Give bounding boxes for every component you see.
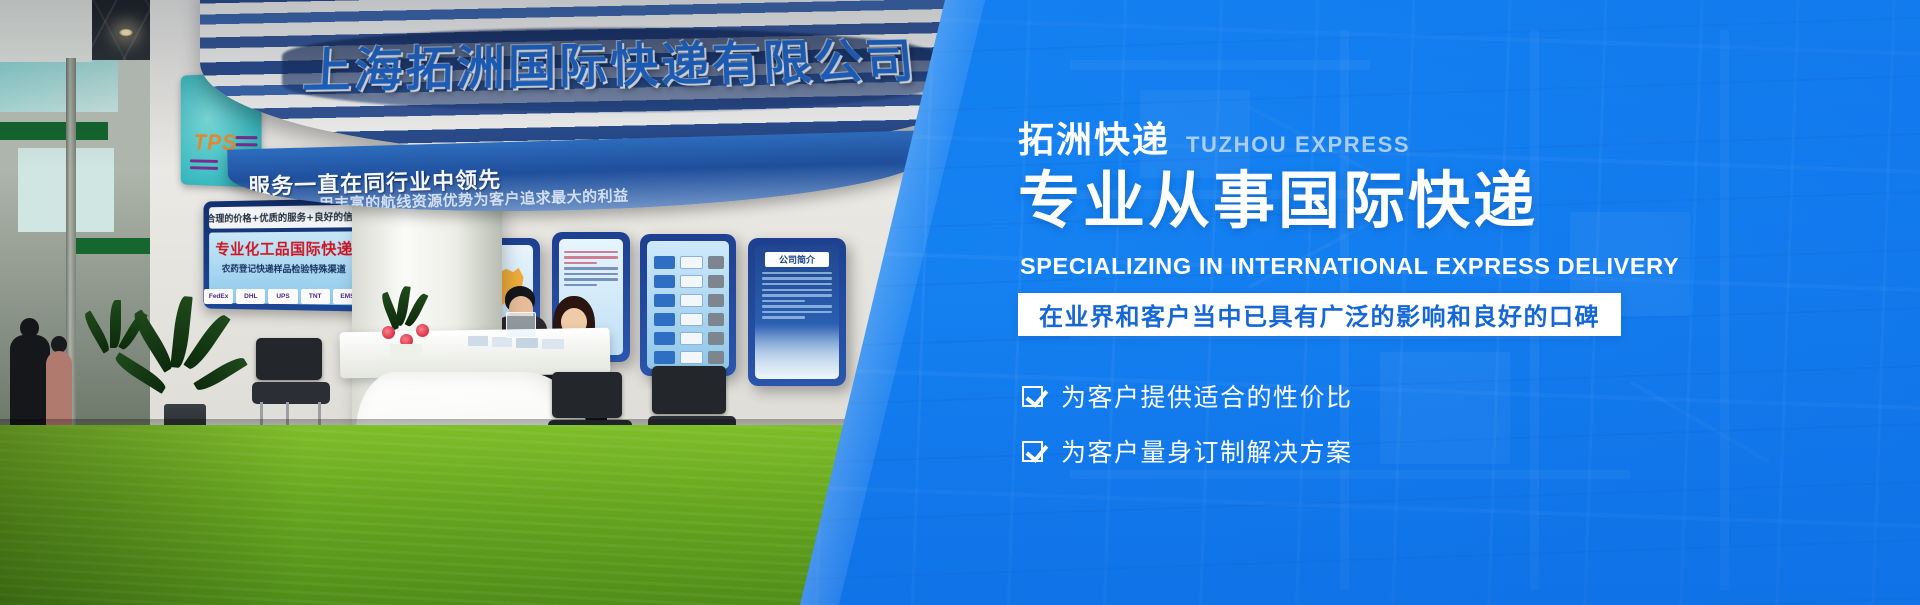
- text-line: [762, 300, 806, 302]
- thumbnail: [708, 351, 724, 364]
- check-box-icon: [1022, 386, 1043, 407]
- feature-bullet-label: 为客户量身订制解决方案: [1061, 433, 1353, 469]
- partner-logo: TNT: [301, 289, 330, 304]
- feature-bullet-item: 为客户量身订制解决方案: [1022, 433, 1353, 469]
- partner-logo: DHL: [236, 289, 265, 304]
- flow-desc: [680, 351, 703, 364]
- brand-name-cn: 拓洲快递: [1018, 123, 1170, 159]
- text-line: [762, 289, 833, 291]
- chair-backrest: [552, 372, 622, 418]
- text-line: [762, 277, 833, 279]
- text-line: [564, 278, 618, 280]
- text-line: [762, 283, 833, 285]
- flow-node: [654, 275, 675, 288]
- display-board-company-profile: 公司简介: [748, 238, 846, 386]
- acrylic-display-box: [506, 312, 536, 338]
- text-line: [564, 251, 618, 253]
- flow-desc: [680, 256, 703, 269]
- display-board-content: [647, 241, 729, 369]
- red-flower: [382, 326, 395, 339]
- banner-content: 拓洲快递 TUZHOU EXPRESS 专业从事国际快递 SPECIALIZIN…: [1018, 0, 1658, 605]
- plant-leaf: [110, 300, 121, 348]
- text-line: [762, 316, 806, 318]
- potted-plant: [82, 300, 152, 410]
- display-board-flowchart: [640, 234, 736, 376]
- feature-bullet-label: 为客户提供适合的性价比: [1061, 378, 1353, 414]
- brand-name-en: TUZHOU EXPRESS: [1186, 133, 1410, 159]
- person-neighbour-booth: [46, 336, 72, 428]
- display-board-content: 公司简介: [755, 245, 839, 379]
- brochure-stack: [492, 337, 512, 347]
- chair-backrest: [652, 366, 726, 414]
- banner-subline: SPECIALIZING IN INTERNATIONAL EXPRESS DE…: [1020, 253, 1679, 280]
- flow-desc: [680, 275, 703, 288]
- info-panel-red-text: 专业化工品国际快递: [209, 238, 360, 260]
- brochure-stack: [468, 336, 488, 346]
- flower-arrangement: [372, 286, 446, 360]
- red-flower: [416, 324, 429, 337]
- plant-leaf: [118, 310, 148, 351]
- profile-text-lines: [762, 272, 833, 319]
- brand-row: 拓洲快递 TUZHOU EXPRESS: [1018, 123, 1410, 159]
- text-line: [762, 311, 833, 313]
- thumbnail: [708, 256, 724, 269]
- plant-leaf: [82, 310, 113, 353]
- text-line: [564, 267, 618, 269]
- flow-desc: [680, 332, 703, 345]
- neighbour-booth-white-panel: [0, 0, 92, 62]
- text-line: [762, 294, 833, 296]
- brochure-stack: [516, 338, 538, 348]
- world-map-graphic: [755, 323, 839, 379]
- flow-node: [654, 294, 675, 307]
- thumbnail: [708, 275, 724, 288]
- text-line: [564, 256, 618, 258]
- flowchart-thumbnails: [708, 256, 724, 364]
- text-line: [762, 305, 833, 307]
- feature-bullet-list: 为客户提供适合的性价比 为客户量身订制解决方案: [1022, 378, 1353, 469]
- feature-bullet-item: 为客户提供适合的性价比: [1022, 378, 1353, 414]
- highlight-quote-box: 在业界和客户当中已具有广泛的影响和良好的口碑: [1018, 293, 1621, 336]
- neighbour-booth-teal-panel: [0, 60, 118, 112]
- thumbnail: [708, 294, 724, 307]
- flower-vase: [390, 344, 422, 360]
- flow-desc: [680, 313, 703, 326]
- text-line: [564, 262, 597, 264]
- flow-node: [654, 256, 675, 269]
- brochure-stack: [542, 339, 564, 349]
- partner-logo: UPS: [268, 289, 297, 304]
- text-line: [564, 273, 618, 275]
- flow-node: [654, 351, 675, 364]
- flow-desc: [680, 294, 703, 307]
- person-torso: [46, 351, 72, 428]
- ceiling-lamp: [118, 28, 134, 37]
- flow-node: [654, 332, 675, 345]
- text-line: [564, 284, 597, 286]
- chair-seat: [252, 382, 330, 404]
- info-panel-sub-text: 农药登记快递样品检验特殊渠道: [209, 262, 360, 276]
- tps-logo-bar: [190, 166, 218, 170]
- board-text-lines: [564, 251, 618, 287]
- check-box-icon: [1022, 441, 1043, 462]
- chair-backrest: [256, 338, 322, 380]
- thumbnail: [708, 332, 724, 345]
- banner-headline: 专业从事国际快递: [1018, 168, 1538, 235]
- neighbour-booth-green-sign: [0, 122, 108, 140]
- flowchart-nodes: [654, 256, 675, 364]
- text-line: [762, 272, 833, 274]
- thumbnail: [708, 313, 724, 326]
- hero-banner: 合理的价格+优质的服务+良好的信誉 专业化工品国际快递 农药登记快递样品检验特殊…: [0, 0, 1920, 605]
- neighbour-booth-green-sign: [72, 238, 158, 254]
- tps-logo-bar: [190, 159, 218, 163]
- booth-company-sign: 上海拓洲国际快递有限公司: [196, 18, 1010, 105]
- flow-node: [654, 313, 675, 326]
- company-profile-title: 公司简介: [765, 252, 829, 267]
- flowchart-descriptions: [680, 256, 703, 364]
- highlight-quote-text: 在业界和客户当中已具有广泛的影响和良好的口碑: [1039, 297, 1600, 332]
